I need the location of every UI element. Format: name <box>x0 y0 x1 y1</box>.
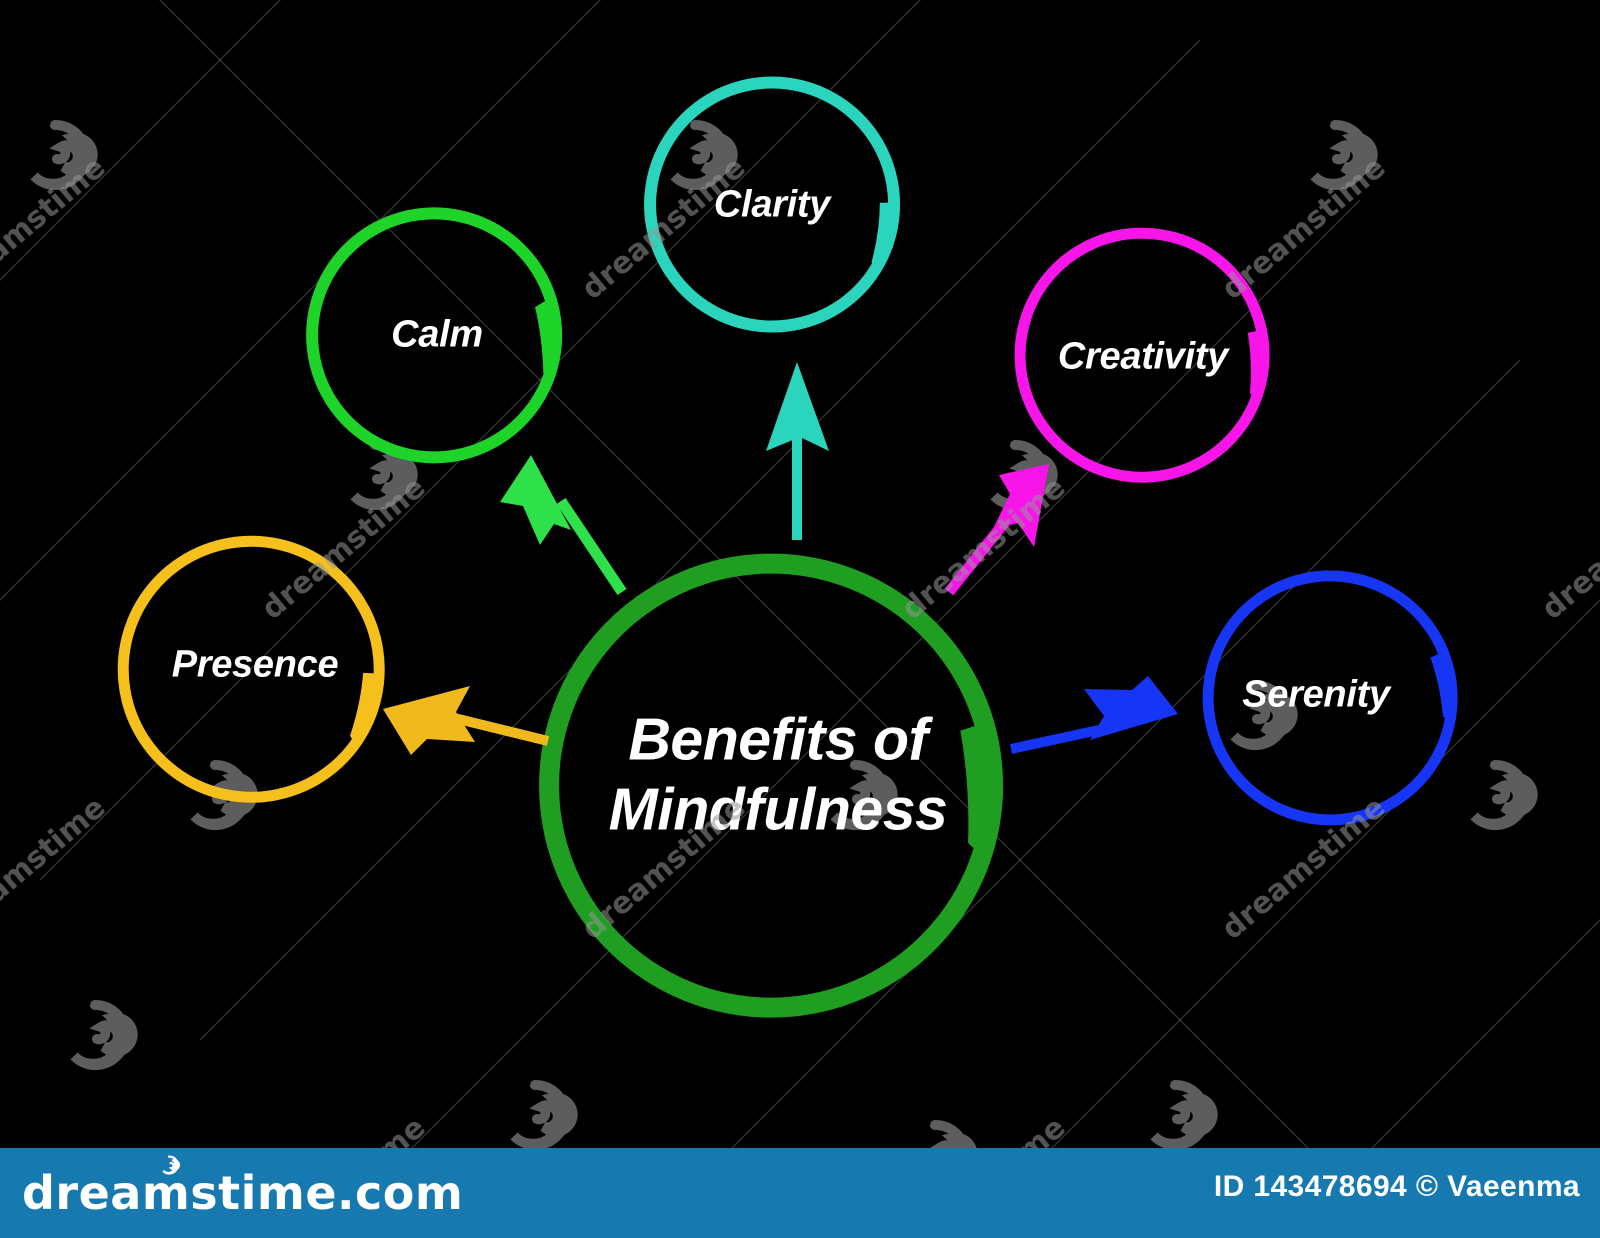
node-ring-clarity[interactable] <box>638 70 906 338</box>
arrow-to-clarity <box>766 362 829 540</box>
center-label-line-2: Mindfulness <box>609 775 948 845</box>
dreamstime-logo[interactable]: dreamstime.com <box>22 1166 463 1220</box>
center-label-line-1: Benefits of <box>609 705 948 775</box>
watermark-grid-lines <box>0 0 1600 1238</box>
arrow-to-serenity <box>1011 676 1178 749</box>
image-id-credit: ID 143478694 © Vaeenma <box>1214 1170 1580 1204</box>
diagram-canvas: dreamstime dreamstime dreamstime dreamst… <box>0 0 1600 1238</box>
dreamstime-spiral-icon <box>158 1154 180 1176</box>
arrow-to-presence <box>383 686 548 755</box>
watermark-spirals <box>34 125 1533 1185</box>
node-ring-serenity[interactable] <box>1182 550 1478 846</box>
node-ring-creativity[interactable] <box>1012 225 1272 485</box>
diagram-svg <box>0 0 1600 1238</box>
node-ring-calm[interactable] <box>296 198 572 474</box>
center-node-label: Benefits of Mindfulness <box>609 705 948 844</box>
dreamstime-footer-bar: dreamstime.com ID 143478694 © Vaeenma <box>0 1148 1600 1238</box>
dreamstime-logo-text: dreamstime.com <box>22 1166 463 1220</box>
arrow-to-creativity <box>949 464 1049 592</box>
arrow-to-calm <box>500 455 622 592</box>
